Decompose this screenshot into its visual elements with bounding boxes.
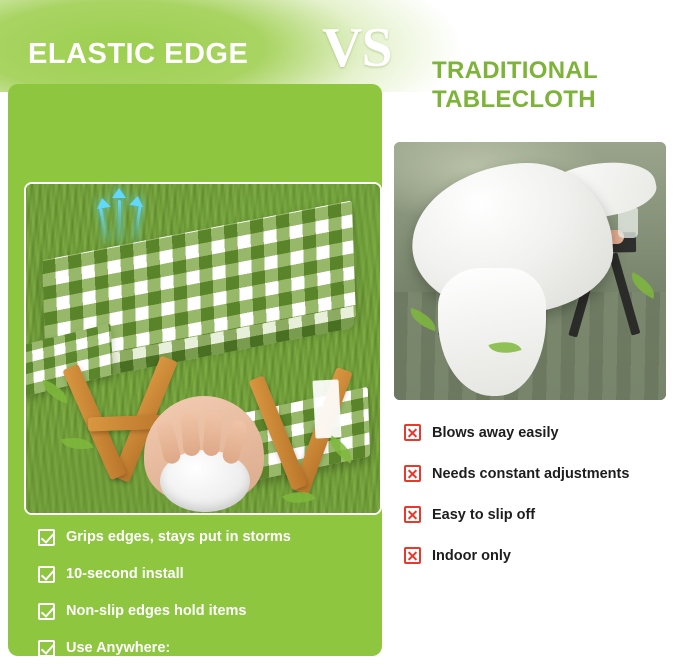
feature-item-label: Grips edges, stays put in storms [66, 528, 291, 546]
feature-item: Non-slip edges hold items [38, 602, 374, 620]
check-icon [38, 603, 55, 620]
wind-arrow-icon [112, 188, 126, 198]
traditional-tablecloth-photo [392, 140, 668, 402]
check-icon [38, 529, 55, 546]
header: ELASTIC EDGE VS TRADITIONAL TABLECLOTH [0, 0, 679, 92]
wind-line-icon [118, 200, 121, 242]
tablecloth-strap [313, 379, 342, 438]
feature-list: Grips edges, stays put in storms 10-seco… [38, 528, 374, 665]
wind-arrow-icon [129, 195, 144, 207]
x-icon [404, 465, 421, 482]
feature-item: 10-second install [38, 565, 374, 583]
feature-item-sublabel: (Outdoor/Indoor/Beach/Mountain) [66, 658, 298, 665]
drawback-item: Blows away easily [404, 424, 676, 441]
drawback-item-label: Blows away easily [432, 425, 559, 441]
page-title-left: ELASTIC EDGE [28, 38, 248, 71]
x-icon [404, 547, 421, 564]
comparison-infographic: ELASTIC EDGE VS TRADITIONAL TABLECLOTH [0, 0, 679, 665]
elastic-tablecloth-photo [24, 182, 382, 515]
left-panel: Grips edges, stays put in storms 10-seco… [8, 84, 382, 656]
drawback-item: Easy to slip off [404, 506, 676, 523]
check-icon [38, 640, 55, 657]
drawback-list: Blows away easily Needs constant adjustm… [404, 424, 676, 588]
hands-demo [138, 396, 270, 515]
drawback-item: Indoor only [404, 547, 676, 564]
drawback-item: Needs constant adjustments [404, 465, 676, 482]
drawback-item-label: Easy to slip off [432, 507, 535, 523]
drawback-item-label: Indoor only [432, 548, 511, 564]
feature-item-label-wrap: Use Anywhere: (Outdoor/Indoor/Beach/Moun… [66, 639, 298, 665]
x-icon [404, 424, 421, 441]
versus-label: VS [322, 16, 392, 80]
check-icon [38, 566, 55, 583]
drawback-item-label: Needs constant adjustments [432, 466, 629, 482]
feature-item: Use Anywhere: (Outdoor/Indoor/Beach/Moun… [38, 639, 374, 665]
feature-item-label: Non-slip edges hold items [66, 602, 246, 620]
feature-item-label: Use Anywhere: [66, 640, 170, 656]
feature-item: Grips edges, stays put in storms [38, 528, 374, 546]
feature-item-label: 10-second install [66, 565, 184, 583]
x-icon [404, 506, 421, 523]
page-title-right: TRADITIONAL TABLECLOTH [432, 56, 672, 115]
